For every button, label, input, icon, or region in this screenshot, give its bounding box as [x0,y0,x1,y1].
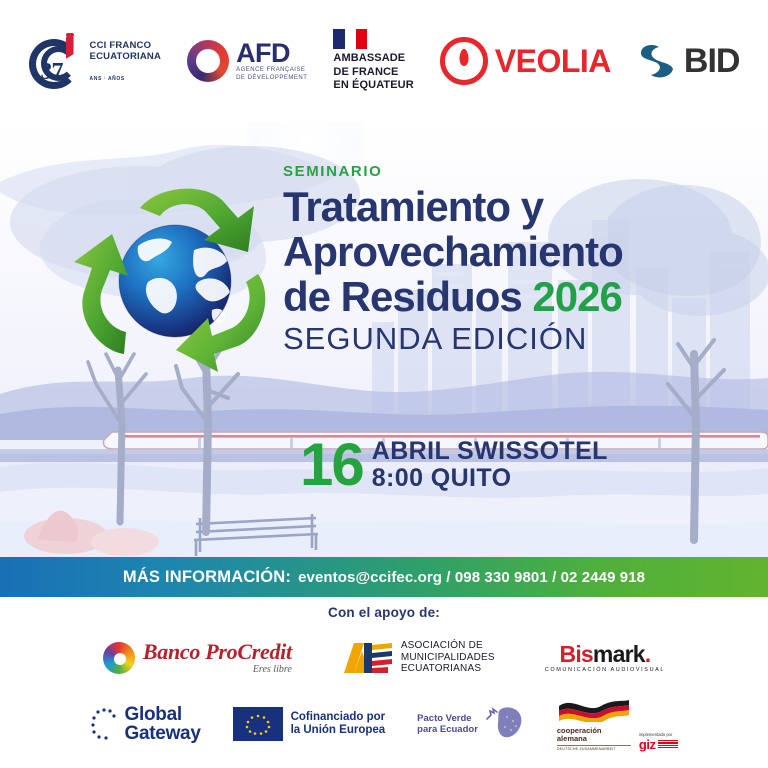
logo-veolia: VEOLIA [440,37,611,85]
global-gateway-line2: Gateway [125,724,201,743]
eu-funded-line2: la Unión Europea [291,724,386,738]
logo-global-gateway: Global Gateway [90,705,201,743]
event-time-city-line: 8:00 QUITO [372,465,608,492]
partner-logo-bar: 37 CCI FRANCO ECUATORIANA ANS · AÑOS AFD… [0,0,768,122]
giz-implemented-label: implementado por [639,732,679,737]
ame-line1: ASOCIACIÓN DE [401,640,495,652]
giz-lines-icon [658,740,678,748]
cci-logo-icon: 37 [29,35,83,87]
cci-name-line1: CCI FRANCO [90,40,162,51]
support-heading: Con el apoyo de: [0,605,768,620]
eu-stars-icon [90,707,120,741]
afd-sub-line2: DE DÉVELOPPEMENT [236,74,307,82]
event-venue-line: ABRIL SWISSOTEL [372,438,608,465]
bid-title: BID [684,42,740,81]
cci-anniversary-number: 37 [41,59,63,85]
eu-funded-line1: Cofinanciado por [291,711,386,725]
french-flag-icon [333,29,367,49]
bid-swoosh-icon [637,41,677,81]
ambassade-line3: EN ÉQUATEUR [333,79,413,93]
event-poster: 37 CCI FRANCO ECUATORIANA ANS · AÑOS AFD… [0,0,768,768]
hero-title-line3: de Residuos [283,273,522,320]
bismark-title-part2: mark [593,641,645,667]
hero-year: 2026 [532,273,621,320]
logo-cci-franco-ecuatoriana: 37 CCI FRANCO ECUATORIANA ANS · AÑOS [29,35,162,87]
ame-line2: MUNICIPALIDADES [401,652,495,664]
logo-ame: ASOCIACIÓN DE MUNICIPALIDADES ECUATORIAN… [342,640,495,675]
afd-ring-icon [187,40,229,82]
ambassade-line2: DE FRANCE [333,66,413,80]
afd-title: AFD [236,40,307,66]
procredit-tagline: Eres libre [143,664,292,675]
pacto-verde-line2: para Ecuador [417,724,478,735]
veolia-droplet-icon [440,37,488,85]
hero-title-line1: Tratamiento y [283,184,703,229]
sponsors-row-2: Global Gateway [0,693,768,755]
hero-title-line2: Aprovechamiento [283,229,703,274]
logo-cooperacion-alemana-giz: cooperación alemana DEUTSCHE ZUSAMMENARB… [557,698,679,751]
hero-title-block: SEMINARIO Tratamiento y Aprovechamiento … [283,163,703,357]
logo-bismark: Bismark. COMUNICACIÓN AUDIOVISUAL [545,643,665,673]
giz-title: giz [639,738,656,751]
hero-title-line3-row: de Residuos 2026 [283,274,703,319]
logo-banco-procredit: Banco ProCredit Eres libre [103,641,292,675]
ame-line3: ECUATORIANAS [401,663,495,675]
veolia-title: VEOLIA [495,43,611,80]
cci-anniversary-sub: ANS · AÑOS [90,76,162,82]
contact-bar: MÁS INFORMACIÓN: eventos@ccifec.org / 09… [0,557,768,597]
logo-bid: BID [637,41,740,81]
global-gateway-line1: Global [125,705,201,724]
procredit-title: Banco ProCredit [143,641,292,663]
recycle-globe-graphic [62,178,287,383]
sponsors-row-1: Banco ProCredit Eres libre [0,630,768,685]
logo-cofinanciado-union-europea: Cofinanciado por la Unión Europea [233,707,386,741]
procredit-spiral-icon [103,642,135,674]
coop-line2: alemana [557,735,631,744]
contact-label: MÁS INFORMACIÓN: [123,568,291,587]
logo-ambassade-de-france: AMBASSADE DE FRANCE EN ÉQUATEUR [333,29,413,93]
ame-monogram-icon [342,641,394,675]
event-day-number: 16 [300,438,363,492]
bismark-sub: COMUNICACIÓN AUDIOVISUAL [545,667,665,673]
coop-sub: DEUTSCHE ZUSAMMENARBEIT [557,745,631,751]
ecuador-map-icon [483,703,525,746]
afd-sub-line1: AGENCE FRANÇAISE [236,66,307,74]
ambassade-line1: AMBASSADE [333,52,413,66]
german-flag-wave-icon [557,698,631,727]
logo-pacto-verde-ecuador: Pacto Verde para Ecuador [417,703,525,746]
cci-name-line2: ECUATORIANA [90,51,162,62]
bismark-dot: . [645,641,651,667]
event-date-block: 16 ABRIL SWISSOTEL 8:00 QUITO [300,438,608,492]
sponsors-section: Con el apoyo de: Banco ProCredit Eres li… [0,597,768,768]
contact-value[interactable]: eventos@ccifec.org / 098 330 9801 / 02 2… [298,569,645,586]
hero-subtitle: SEGUNDA EDICIÓN [283,321,703,357]
seminar-kicker: SEMINARIO [283,163,703,180]
logo-afd: AFD AGENCE FRANÇAISE DE DÉVELOPPEMENT [187,40,307,82]
bismark-title-part1: Bis [560,641,593,667]
pacto-verde-line1: Pacto Verde [417,713,478,724]
eu-flag-icon [233,707,283,741]
